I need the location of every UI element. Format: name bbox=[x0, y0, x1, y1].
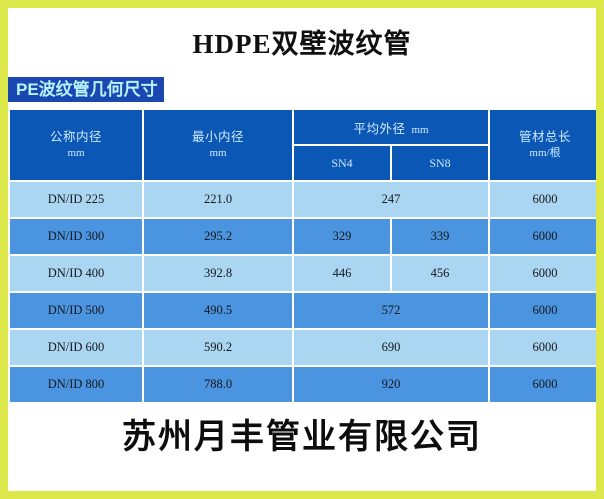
cell-total-length: 6000 bbox=[490, 182, 596, 217]
cell-sn4: 446 bbox=[294, 256, 390, 291]
cell-sn8: 339 bbox=[392, 219, 488, 254]
header-sn4: SN4 bbox=[294, 146, 390, 180]
cell-total-length: 6000 bbox=[490, 330, 596, 365]
cell-nominal-id: DN/ID 500 bbox=[10, 293, 142, 328]
cell-min-id: 788.0 bbox=[144, 367, 292, 402]
header-min-id-label: 最小内径 bbox=[144, 129, 292, 146]
cell-sn4: 329 bbox=[294, 219, 390, 254]
cell-min-id: 590.2 bbox=[144, 330, 292, 365]
table-row: DN/ID 225221.02476000 bbox=[10, 182, 596, 217]
cell-avg-od-merged: 690 bbox=[294, 330, 488, 365]
header-total-length: 管材总长 mm/根 bbox=[490, 110, 596, 180]
spec-table-wrapper: 公称内径 mm 最小内径 mm 平均外径mm 管材总长 mm/根 bbox=[8, 108, 594, 404]
cell-avg-od-merged: 920 bbox=[294, 367, 488, 402]
cell-min-id: 295.2 bbox=[144, 219, 292, 254]
header-avg-od-label: 平均外径 bbox=[353, 122, 405, 136]
header-min-id-unit: mm bbox=[144, 146, 292, 161]
header-min-id: 最小内径 mm bbox=[144, 110, 292, 180]
table-head: 公称内径 mm 最小内径 mm 平均外径mm 管材总长 mm/根 bbox=[10, 110, 596, 180]
header-row-top: 公称内径 mm 最小内径 mm 平均外径mm 管材总长 mm/根 bbox=[10, 110, 596, 144]
section-badge: PE波纹管几何尺寸 bbox=[8, 77, 164, 102]
cell-total-length: 6000 bbox=[490, 367, 596, 402]
header-nominal-id: 公称内径 mm bbox=[10, 110, 142, 180]
table-row: DN/ID 300295.23293396000 bbox=[10, 219, 596, 254]
cell-nominal-id: DN/ID 225 bbox=[10, 182, 142, 217]
table-body: DN/ID 225221.02476000DN/ID 300295.232933… bbox=[10, 182, 596, 402]
cell-nominal-id: DN/ID 400 bbox=[10, 256, 142, 291]
company-name: 苏州月丰管业有限公司 bbox=[8, 412, 596, 464]
page-canvas: HDPE双壁波纹管 PE波纹管几何尺寸 公称内径 mm 最小内径 bbox=[8, 8, 596, 491]
header-avg-od-unit: mm bbox=[411, 124, 428, 136]
spec-table: 公称内径 mm 最小内径 mm 平均外径mm 管材总长 mm/根 bbox=[8, 108, 596, 404]
cell-nominal-id: DN/ID 800 bbox=[10, 367, 142, 402]
header-sn8: SN8 bbox=[392, 146, 488, 180]
subtitle-row: PE波纹管几何尺寸 bbox=[8, 77, 596, 102]
table-row: DN/ID 500490.55726000 bbox=[10, 293, 596, 328]
cell-min-id: 392.8 bbox=[144, 256, 292, 291]
table-row: DN/ID 400392.84464566000 bbox=[10, 256, 596, 291]
cell-sn8: 456 bbox=[392, 256, 488, 291]
cell-total-length: 6000 bbox=[490, 256, 596, 291]
header-nominal-id-label: 公称内径 bbox=[10, 129, 142, 146]
header-nominal-id-unit: mm bbox=[10, 146, 142, 161]
cell-min-id: 490.5 bbox=[144, 293, 292, 328]
table-row: DN/ID 800788.09206000 bbox=[10, 367, 596, 402]
header-total-length-unit: mm/根 bbox=[490, 146, 596, 161]
table-row: DN/ID 600590.26906000 bbox=[10, 330, 596, 365]
cell-avg-od-merged: 247 bbox=[294, 182, 488, 217]
cell-nominal-id: DN/ID 600 bbox=[10, 330, 142, 365]
cell-total-length: 6000 bbox=[490, 219, 596, 254]
cell-avg-od-merged: 572 bbox=[294, 293, 488, 328]
cell-total-length: 6000 bbox=[490, 293, 596, 328]
header-total-length-label: 管材总长 bbox=[490, 129, 596, 146]
cell-min-id: 221.0 bbox=[144, 182, 292, 217]
cell-nominal-id: DN/ID 300 bbox=[10, 219, 142, 254]
page-title: HDPE双壁波纹管 bbox=[8, 26, 596, 62]
header-avg-od: 平均外径mm bbox=[294, 110, 488, 144]
